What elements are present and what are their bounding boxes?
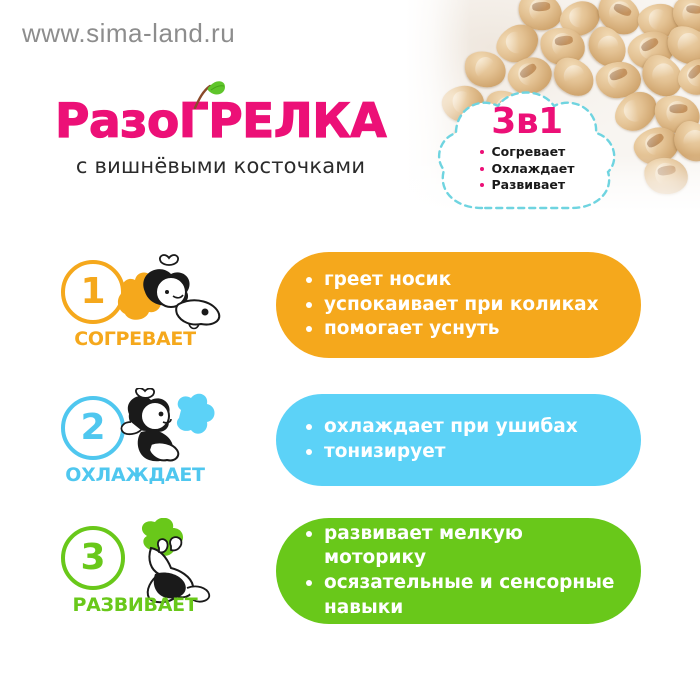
brand-block: РазоГРЕЛКА с вишнёвыми косточками bbox=[55, 98, 386, 178]
cloud-content: 3в1 Согревает Охлаждает Развивает bbox=[432, 86, 622, 221]
baby-playing-icon bbox=[107, 518, 227, 604]
feature-icon-column: 3 РАЗВИВАЕТ bbox=[55, 518, 255, 636]
feature-bullet: помогает уснуть bbox=[304, 317, 619, 342]
feature-row-warms: 1 СОГРЕВАЕТ греет носик успокаивает при … bbox=[0, 252, 700, 370]
feature-bullet-list: развивает мелкую моторику осязательные и… bbox=[276, 522, 641, 620]
feature-bullet: развивает мелкую моторику bbox=[304, 522, 619, 571]
feature-bullet: осязательные и сенсорные навыки bbox=[304, 571, 619, 620]
bullet-dot-icon bbox=[306, 580, 312, 586]
bullet-dot-icon bbox=[306, 449, 312, 455]
feature-panel-cools: охлаждает при ушибах тонизирует bbox=[276, 394, 641, 486]
cloud-list-item: Согревает bbox=[480, 144, 575, 161]
feature-label: ОХЛАЖДАЕТ bbox=[55, 464, 215, 486]
feature-bullet: успокаивает при коликах bbox=[304, 293, 619, 318]
bullet-dot-icon bbox=[306, 424, 312, 430]
cloud-list-item: Охлаждает bbox=[480, 161, 575, 178]
cherry-leaf-icon bbox=[192, 79, 226, 109]
baby-sleeping-icon bbox=[107, 252, 227, 338]
feature-bullet-label: охлаждает при ушибах bbox=[324, 416, 578, 437]
feature-bullet-label: греет носик bbox=[324, 269, 451, 290]
feature-bullet-list: греет носик успокаивает при коликах помо… bbox=[276, 268, 641, 342]
feature-bullet: греет носик bbox=[304, 268, 619, 293]
feature-bullet: тонизирует bbox=[304, 440, 619, 465]
feature-icon-column: 2 ОХЛАЖДАЕТ bbox=[55, 388, 255, 506]
cloud-title: 3в1 bbox=[491, 104, 562, 140]
feature-bullet-list: охлаждает при ушибах тонизирует bbox=[276, 415, 641, 464]
bullet-dot-icon bbox=[306, 277, 312, 283]
bullet-dot-icon bbox=[480, 183, 484, 187]
site-watermark: www.sima-land.ru bbox=[22, 18, 235, 49]
feature-row-develops: 3 РАЗВИВАЕТ развивает мелкую моторику ос… bbox=[0, 518, 700, 636]
feature-label: СОГРЕВАЕТ bbox=[55, 328, 215, 350]
product-infographic-page: www.sima-land.ru РазоГРЕЛКА с вишнёвыми … bbox=[0, 0, 700, 700]
feature-row-cools: 2 ОХЛАЖДАЕТ охлаждает при ушибах тонизир… bbox=[0, 388, 700, 506]
feature-bullet-label: осязательные и сенсорные навыки bbox=[324, 572, 614, 618]
cloud-item-label: Развивает bbox=[492, 177, 566, 192]
bullet-dot-icon bbox=[306, 531, 312, 537]
feature-bullet-label: помогает уснуть bbox=[324, 318, 499, 339]
cloud-item-label: Согревает bbox=[492, 144, 566, 159]
feature-bullet-label: тонизирует bbox=[324, 441, 445, 462]
bullet-dot-icon bbox=[306, 302, 312, 308]
bullet-dot-icon bbox=[480, 150, 484, 154]
feature-bullet-label: развивает мелкую моторику bbox=[324, 523, 523, 569]
feature-bullet-label: успокаивает при коликах bbox=[324, 294, 599, 315]
feature-panel-develops: развивает мелкую моторику осязательные и… bbox=[276, 518, 641, 624]
feature-bullet: охлаждает при ушибах bbox=[304, 415, 619, 440]
feature-label: РАЗВИВАЕТ bbox=[55, 594, 215, 616]
feature-panel-warms: греет носик успокаивает при коликах помо… bbox=[276, 252, 641, 358]
cloud-badge: 3в1 Согревает Охлаждает Развивает bbox=[432, 86, 622, 221]
cloud-benefit-list: Согревает Охлаждает Развивает bbox=[480, 144, 575, 194]
baby-sitting-icon bbox=[107, 388, 227, 474]
cloud-list-item: Развивает bbox=[480, 177, 575, 194]
brand-subtitle: с вишнёвыми косточками bbox=[55, 154, 386, 178]
bullet-dot-icon bbox=[306, 326, 312, 332]
feature-icon-column: 1 СОГРЕВАЕТ bbox=[55, 252, 255, 370]
bullet-dot-icon bbox=[480, 167, 484, 171]
cloud-item-label: Охлаждает bbox=[492, 161, 575, 176]
